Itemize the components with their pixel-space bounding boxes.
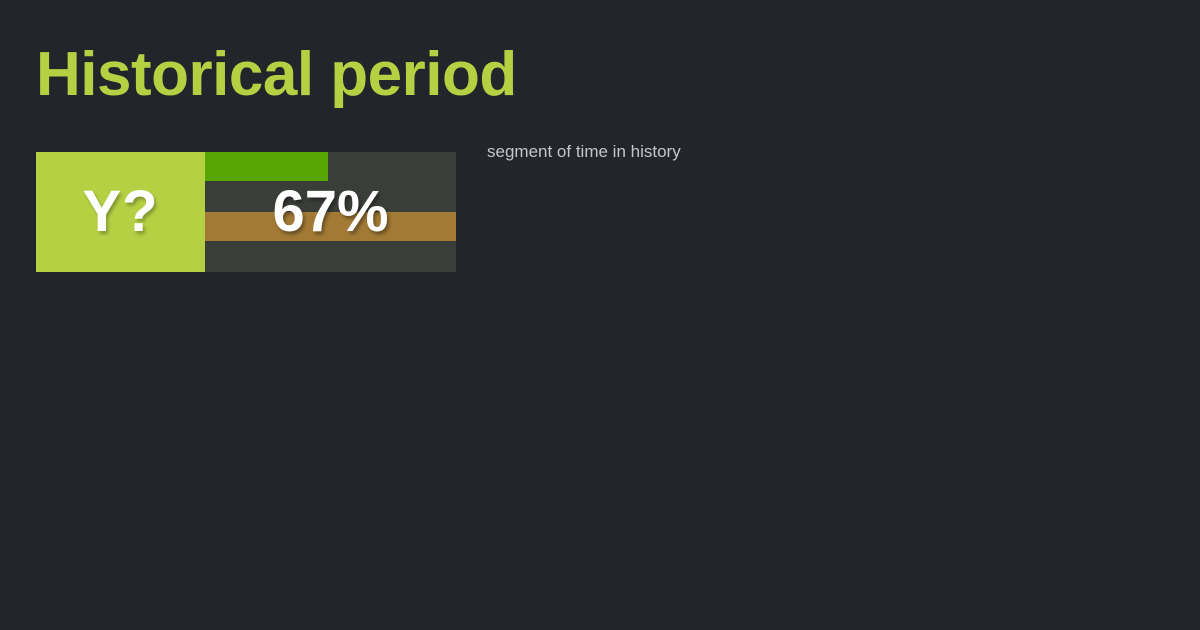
gauge-panel: 67% [205,152,456,272]
gauge-value-overlay: 67% [205,152,456,272]
gauge-value-text: 67% [272,183,388,241]
badge-label-text: Y? [82,183,158,241]
badge-label-block: Y? [36,152,205,272]
page-subtitle: segment of time in history [487,142,681,162]
page-title: Historical period [36,44,517,106]
score-badge-widget: Y? 67% [36,152,456,272]
